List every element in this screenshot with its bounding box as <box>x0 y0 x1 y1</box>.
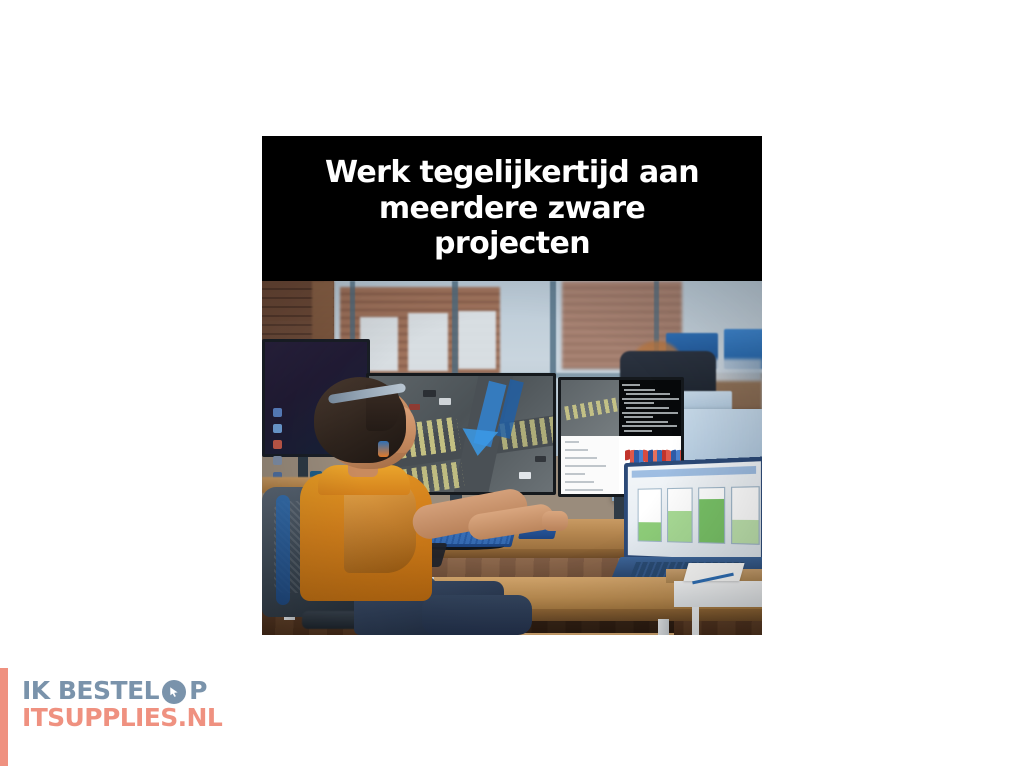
promo-card[interactable]: Werk tegelijkertijd aan meerdere zware p… <box>262 136 762 635</box>
vehicle <box>409 404 420 410</box>
chart-bar <box>668 511 691 542</box>
terminal-line <box>622 384 640 386</box>
brand-line1-suffix: P <box>189 678 207 704</box>
brand-line-one: IK BESTEL P <box>22 678 222 704</box>
terminal-line <box>626 393 670 395</box>
brand-accent-bar <box>0 668 8 766</box>
chair-accent-trim <box>276 495 290 605</box>
cursor-arrow-icon <box>162 680 186 704</box>
terminal-line <box>622 398 679 400</box>
terminal-line <box>624 416 653 418</box>
terminal-line <box>624 430 652 432</box>
terminal-line <box>624 389 655 391</box>
chart-bar <box>699 499 724 543</box>
desktop-icon <box>273 440 282 449</box>
terminal-line <box>622 425 677 427</box>
window-pane <box>408 313 448 371</box>
person-hand <box>542 511 568 531</box>
parameter-row <box>565 457 597 459</box>
chart-bar <box>732 520 758 544</box>
laptop-screen <box>624 456 762 565</box>
brand-line1-prefix: IK BESTEL <box>22 678 159 704</box>
aerial-thumbnail-panel <box>561 380 619 436</box>
terminal-line <box>626 407 669 409</box>
desktop-icon <box>273 456 282 465</box>
vehicle <box>535 456 546 462</box>
laptop-toolbar <box>632 466 756 478</box>
dashboard-chart <box>731 486 760 545</box>
dashboard-chart <box>638 488 662 542</box>
promo-photograph <box>262 281 762 635</box>
dashboard-chart <box>667 488 693 543</box>
side-table <box>674 581 762 607</box>
vehicle <box>519 472 531 479</box>
brand-line-two: ITSUPPLIES.NL <box>22 705 222 731</box>
brand-logo[interactable]: IK BESTEL P ITSUPPLIES.NL <box>0 668 240 766</box>
window-pane <box>458 311 496 369</box>
brand-wordmark: IK BESTEL P ITSUPPLIES.NL <box>22 678 222 732</box>
person-thigh <box>422 595 532 635</box>
parameter-row <box>565 465 606 467</box>
vehicle <box>439 398 451 405</box>
parameter-row <box>565 489 603 491</box>
desk-leg <box>658 619 669 635</box>
direction-arrow-icon <box>460 428 499 458</box>
page-root: Werk tegelijkertijd aan meerdere zware p… <box>0 0 1024 768</box>
desktop-icon <box>273 408 282 417</box>
parameter-row <box>565 473 585 475</box>
table-leg <box>692 607 699 635</box>
terminal-line <box>626 421 668 423</box>
vehicle <box>423 390 436 397</box>
person-earring <box>378 441 389 457</box>
terminal-line <box>622 412 678 414</box>
parameters-panel <box>561 436 619 497</box>
background-desk-clutter <box>714 359 762 381</box>
parameter-row <box>565 481 594 483</box>
terminal-line <box>624 402 654 404</box>
terminal-panel <box>619 380 684 436</box>
dashboard-chart <box>698 487 725 544</box>
page-title: Werk tegelijkertijd aan meerdere zware p… <box>311 155 713 261</box>
desktop-icon <box>273 424 282 433</box>
parameter-row <box>565 449 588 451</box>
headline-banner: Werk tegelijkertijd aan meerdere zware p… <box>262 136 762 281</box>
chart-bar <box>639 522 661 541</box>
parameter-row <box>565 441 579 443</box>
